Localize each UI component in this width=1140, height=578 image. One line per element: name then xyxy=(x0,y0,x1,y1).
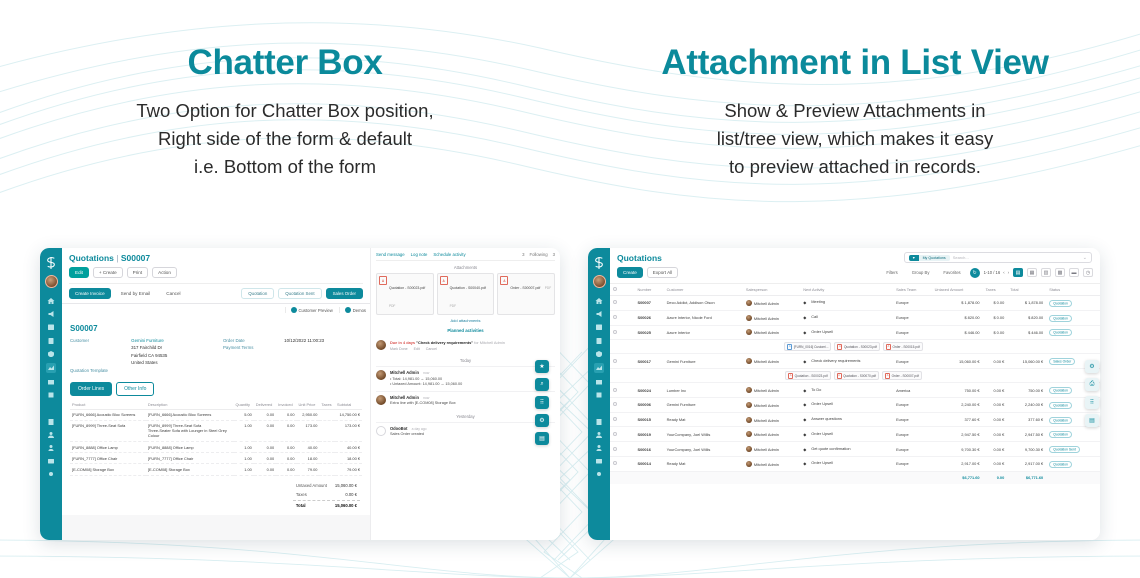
cell-total[interactable]: $ 820.00 xyxy=(1007,310,1046,325)
checkbox-icon[interactable] xyxy=(613,447,617,451)
col-subtotal[interactable]: Subtotal xyxy=(335,400,362,410)
row-checkbox[interactable] xyxy=(610,397,635,412)
checkbox-icon[interactable] xyxy=(613,417,617,421)
order-line-product[interactable]: [FURN_8888] Office Lamp xyxy=(70,441,146,452)
activity-line: Due in 4 days "Check delivery requiremen… xyxy=(390,340,555,345)
order-line-description[interactable]: [FURN_8888] Office Lamp xyxy=(146,441,234,452)
order-line-invoiced[interactable]: 0.00 xyxy=(276,441,296,452)
row-checkbox[interactable] xyxy=(610,325,635,340)
order-line-product[interactable]: [FURN_7777] Office Chair xyxy=(70,453,146,464)
cell-next-activity[interactable]: ◆To Do xyxy=(800,383,893,398)
chatter-toolbar[interactable]: Send message Log note Schedule activity … xyxy=(376,252,555,261)
message-timestamp: now xyxy=(423,396,429,400)
cell-total[interactable]: 9,700.30 € xyxy=(1007,442,1046,457)
form-notebook-tabs[interactable]: Order Lines Other Info xyxy=(70,382,362,396)
cell-taxes[interactable]: 0.00 € xyxy=(983,354,1008,369)
cell-number[interactable]: S00006 xyxy=(635,397,664,412)
field-customer[interactable]: Customer Gemini Furniture xyxy=(70,338,209,343)
checkbox-icon[interactable] xyxy=(613,330,617,334)
cell-total[interactable]: 377.60 € xyxy=(1007,412,1046,427)
order-line-taxes[interactable] xyxy=(319,464,335,475)
project-icon[interactable] xyxy=(595,457,603,465)
cell-number[interactable]: S00014 xyxy=(635,457,664,472)
tab-other-info[interactable]: Other Info xyxy=(116,382,154,396)
cell-next-activity[interactable]: ◆Get quote confirmation xyxy=(800,442,893,457)
order-line-subtotal[interactable]: 79.00 € xyxy=(335,464,362,475)
pager[interactable]: 1-10 / 16 ‹ › xyxy=(984,270,1009,275)
calendar-icon[interactable] xyxy=(595,323,603,331)
cell-next-activity[interactable]: ◆Check delivery requirements xyxy=(800,354,893,369)
cell-customer[interactable]: Ready Mat xyxy=(664,412,743,427)
search-facet[interactable]: ▼ My Quotations xyxy=(909,255,950,261)
cell-total[interactable]: 2,240.00 € xyxy=(1007,397,1046,412)
sales-icon[interactable] xyxy=(46,363,56,373)
favorites-button[interactable]: Favorites xyxy=(938,267,965,278)
col-customer[interactable]: Customer xyxy=(664,284,743,296)
row-checkbox[interactable] xyxy=(610,310,635,325)
col-invoiced[interactable]: Invoiced xyxy=(276,400,296,410)
order-line-description[interactable]: [FURN_6666] Acoustic Bloc Screens xyxy=(146,409,234,420)
order-line-taxes[interactable] xyxy=(319,441,335,452)
field-payment-terms[interactable]: Payment Terms xyxy=(223,345,362,350)
select-all-checkbox[interactable] xyxy=(610,284,635,296)
app-sidebar-right[interactable] xyxy=(588,248,610,540)
col-description[interactable]: Description xyxy=(146,400,234,410)
order-line-delivered[interactable]: 0.00 xyxy=(254,420,276,441)
smart-button-row[interactable]: Customer Preview Demos xyxy=(62,304,370,318)
group-by-button[interactable]: Group By xyxy=(907,267,935,278)
table-row[interactable]: S00025Azure InteriorMitchell Admin◆Order… xyxy=(610,325,1100,340)
crm-icon[interactable] xyxy=(595,350,603,358)
col-taxes[interactable]: Taxes xyxy=(319,400,335,410)
order-line-description[interactable]: [FURN_8999] Three-Seat Sofa Three-Seater… xyxy=(146,420,234,441)
cell-taxes[interactable]: $ 0.00 xyxy=(983,310,1008,325)
order-line-description[interactable]: [E-COM08] Storage Box xyxy=(146,464,234,475)
col-quantity[interactable]: Quantity xyxy=(234,400,254,410)
cell-untaxed-amount[interactable]: 377.60 € xyxy=(932,412,983,427)
view-list-icon[interactable]: ▤ xyxy=(1013,268,1023,277)
col-salesperson[interactable]: Salesperson xyxy=(743,284,800,296)
star-icon[interactable]: ★ xyxy=(535,360,549,373)
chevron-down-icon[interactable]: ⌄ xyxy=(1083,255,1087,261)
project-icon[interactable] xyxy=(47,457,55,465)
cell-salesperson[interactable]: Mitchell Admin xyxy=(743,427,800,442)
order-line-description[interactable]: [FURN_7777] Office Chair xyxy=(146,453,234,464)
cell-taxes[interactable]: 0.00 € xyxy=(983,397,1008,412)
schedule-activity-button[interactable]: Schedule activity xyxy=(433,252,465,257)
search-facet-label[interactable]: My Quotations xyxy=(919,255,950,261)
field-quotation-template[interactable]: Quotation Template xyxy=(70,368,209,373)
pager-prev-icon[interactable]: ‹ xyxy=(1003,270,1004,275)
order-line-invoiced[interactable]: 0.00 xyxy=(276,420,296,441)
cell-status[interactable]: Quotation xyxy=(1046,325,1100,340)
cell-next-activity[interactable]: ◆Answer questions xyxy=(800,412,893,427)
cell-status[interactable]: Quotation xyxy=(1046,310,1100,325)
search-input[interactable]: Search... xyxy=(953,255,969,260)
cell-customer[interactable]: Azure Interior, Nicole Ford xyxy=(664,310,743,325)
order-line-unit-price[interactable]: 2,950.00 xyxy=(297,409,320,420)
attachment-chip[interactable]: AOrder - S00015.pdf xyxy=(883,342,923,351)
cell-customer[interactable]: Gemini Furniture xyxy=(664,354,743,369)
export-all-button[interactable]: Export All xyxy=(647,267,678,278)
cell-next-activity[interactable]: ◆Order Upsell xyxy=(800,397,893,412)
pager-next-icon[interactable]: › xyxy=(1008,270,1009,275)
settings-icon[interactable]: ⚙ xyxy=(535,414,549,427)
table-row[interactable]: [FURN_8888] Office Lamp[FURN_8888] Offic… xyxy=(70,441,362,452)
floating-side-buttons-left[interactable]: ★ ⌕ ⠿ ⚙ ▤ xyxy=(535,360,549,445)
cell-status[interactable]: Quotation xyxy=(1046,457,1100,472)
cell-taxes[interactable]: 0.00 € xyxy=(983,383,1008,398)
print-icon[interactable]: ⎙ xyxy=(1085,378,1099,391)
order-line-invoiced[interactable]: 0.00 xyxy=(276,453,296,464)
view-activity-icon[interactable]: ◷ xyxy=(1083,268,1093,277)
cell-salesperson[interactable]: Mitchell Admin xyxy=(743,397,800,412)
search-icon[interactable]: ⌕ xyxy=(535,378,549,391)
cell-total[interactable]: $ 446.00 xyxy=(1007,325,1046,340)
cell-untaxed-amount[interactable]: 2,947.50 € xyxy=(932,427,983,442)
megaphone-icon[interactable] xyxy=(47,310,55,318)
attachment-chip[interactable]: A Quotation - S00023.pdf PDF xyxy=(376,273,434,315)
home-icon[interactable] xyxy=(47,297,55,305)
user-avatar[interactable] xyxy=(45,275,58,288)
cell-total[interactable]: 15,060.00 € xyxy=(1007,354,1046,369)
order-line-subtotal[interactable]: 18.00 € xyxy=(335,453,362,464)
col-next-activity[interactable]: Next Activity xyxy=(800,284,893,296)
cell-salesperson[interactable]: Mitchell Admin xyxy=(743,296,800,311)
order-line-unit-price[interactable]: 79.00 xyxy=(297,464,320,475)
manufacturing-icon[interactable] xyxy=(595,405,603,413)
cell-salesperson[interactable]: Mitchell Admin xyxy=(743,383,800,398)
attachment-icon[interactable]: ▤ xyxy=(1085,414,1099,427)
row-checkbox[interactable] xyxy=(610,457,635,472)
checkbox-icon[interactable] xyxy=(613,287,617,291)
accounting-icon[interactable] xyxy=(595,418,603,426)
cell-number[interactable]: S00026 xyxy=(635,310,664,325)
cell-sales-team[interactable]: Europe xyxy=(893,296,932,311)
employees-icon[interactable] xyxy=(47,431,55,439)
cell-status[interactable]: Quotation xyxy=(1046,427,1100,442)
inventory-icon[interactable] xyxy=(47,378,55,386)
cell-number[interactable]: S00025 xyxy=(635,325,664,340)
add-attachments-button[interactable]: Add attachments xyxy=(376,318,555,323)
cell-next-activity[interactable]: ◆Order Upsell xyxy=(800,325,893,340)
apps-icon[interactable]: ⠿ xyxy=(1085,396,1099,409)
order-line-taxes[interactable] xyxy=(319,409,335,420)
settings-icon[interactable] xyxy=(595,470,603,478)
cell-untaxed-amount[interactable]: 15,060.00 € xyxy=(932,354,983,369)
cell-number[interactable]: S00019 xyxy=(635,427,664,442)
user-avatar[interactable] xyxy=(593,275,606,288)
attachment-chip[interactable]: AQuotation - S00023.pdf xyxy=(785,371,830,380)
table-row[interactable]: S00014Ready MatMitchell Admin◆Order Upse… xyxy=(610,457,1100,472)
edit-button[interactable]: Edit xyxy=(69,267,89,278)
order-line-quantity[interactable]: 1.00 xyxy=(234,441,254,452)
cell-sales-team[interactable]: America xyxy=(893,383,932,398)
note-icon[interactable]: ▤ xyxy=(535,432,549,445)
col-untaxed-amount[interactable]: Untaxed Amount xyxy=(932,284,983,296)
table-row[interactable]: S00007Deco Addict, Addison OlsonMitchell… xyxy=(610,296,1100,311)
cell-untaxed-amount[interactable]: $ 446.00 xyxy=(932,325,983,340)
cell-number[interactable]: S00024 xyxy=(635,383,664,398)
checkbox-icon[interactable] xyxy=(613,402,617,406)
order-line-delivered[interactable]: 0.00 xyxy=(254,409,276,420)
col-total[interactable]: Total xyxy=(1007,284,1046,296)
grid-icon[interactable]: ⠿ xyxy=(535,396,549,409)
cell-customer[interactable]: Azure Interior xyxy=(664,325,743,340)
order-line-subtotal[interactable]: 14,750.00 € xyxy=(335,409,362,420)
statusbar-sales-order[interactable]: Sales Order xyxy=(326,288,363,299)
cancel-button[interactable]: Cancel xyxy=(160,288,186,299)
list-view-body: Quotations ▼ My Quotations Search... ⌄ C… xyxy=(610,248,1100,540)
breadcrumb[interactable]: Quotations | S00007 xyxy=(69,253,363,263)
col-product[interactable]: Product xyxy=(70,400,146,410)
filters-button[interactable]: Filters xyxy=(881,267,902,278)
cell-taxes[interactable]: 0.00 € xyxy=(983,442,1008,457)
search-bar[interactable]: ▼ My Quotations Search... ⌄ xyxy=(904,252,1092,263)
cell-status[interactable]: Quotation Sent xyxy=(1046,442,1100,457)
settings-icon[interactable] xyxy=(47,470,55,478)
refresh-icon[interactable]: ↻ xyxy=(970,268,980,278)
cell-taxes[interactable]: $ 0.00 xyxy=(983,325,1008,340)
activity-edit-button[interactable]: Edit xyxy=(414,347,420,351)
checkbox-icon[interactable] xyxy=(613,300,617,304)
activity-actions[interactable]: Mark Done Edit Cancel xyxy=(390,347,555,351)
order-line-unit-price[interactable]: 173.00 xyxy=(297,420,320,441)
attachment-chip[interactable]: A Order - S00007.pdf PDF xyxy=(497,273,555,315)
floating-side-buttons-right[interactable]: ⚙ ⎙ ⠿ ▤ xyxy=(1085,360,1099,427)
cell-untaxed-amount[interactable]: $ 1,878.00 xyxy=(932,296,983,311)
attachment-chip[interactable]: AQuotation - S00023.pdf xyxy=(834,342,879,351)
list-rows-body: S00007Deco Addict, Addison OlsonMitchell… xyxy=(610,296,1100,472)
create-invoice-button[interactable]: Create Invoice xyxy=(69,288,111,299)
view-pivot-icon[interactable]: ▩ xyxy=(1055,268,1065,277)
order-line-quantity[interactable]: 1.00 xyxy=(234,453,254,464)
cell-salesperson[interactable]: Mitchell Admin xyxy=(743,325,800,340)
order-line-subtotal[interactable]: 40.00 € xyxy=(335,441,362,452)
send-by-email-button[interactable]: Send by Email xyxy=(115,288,157,299)
field-order-date[interactable]: Order Date 10/12/2022 11:00:23 xyxy=(223,338,362,343)
cell-next-activity[interactable]: ◆Order Upsell xyxy=(800,427,893,442)
cell-status[interactable]: Quotation xyxy=(1046,296,1100,311)
order-line-taxes[interactable] xyxy=(319,420,335,441)
checkbox-icon[interactable] xyxy=(613,461,617,465)
order-line-quantity[interactable]: 5.00 xyxy=(234,409,254,420)
order-line-delivered[interactable]: 0.00 xyxy=(254,453,276,464)
crm-icon[interactable] xyxy=(47,350,55,358)
checkbox-icon[interactable] xyxy=(613,359,617,363)
calendar-icon[interactable] xyxy=(47,323,55,331)
table-row[interactable]: S00016YourCompany, Joel WillisMitchell A… xyxy=(610,442,1100,457)
table-row[interactable]: [E-COM08] Storage Box[E-COM08] Storage B… xyxy=(70,464,362,475)
activity-cancel-button[interactable]: Cancel xyxy=(426,347,437,351)
demos-smart-button[interactable]: Demos xyxy=(339,307,366,313)
cell-customer[interactable]: YourCompany, Joel Willis xyxy=(664,442,743,457)
print-button[interactable]: Print xyxy=(127,267,148,278)
order-line-product[interactable]: [FURN_6666] Acoustic Bloc Screens xyxy=(70,409,146,420)
cell-customer[interactable]: Gemini Furniture xyxy=(664,397,743,412)
app-sidebar-left[interactable] xyxy=(40,248,62,540)
cell-taxes[interactable]: 0.00 € xyxy=(983,427,1008,442)
cell-salesperson[interactable]: Mitchell Admin xyxy=(743,442,800,457)
attachment-chip[interactable]: A Quotation - S00040.pdf PDF xyxy=(437,273,495,315)
statusbar-quotation-sent[interactable]: Quotation Sent xyxy=(278,288,321,299)
home-icon[interactable] xyxy=(595,297,603,305)
attachment-chip[interactable]: AQuotation - S00070.pdf xyxy=(834,371,879,380)
row-checkbox[interactable] xyxy=(610,383,635,398)
checkbox-icon[interactable] xyxy=(613,388,617,392)
following-toggle[interactable]: Following xyxy=(529,252,547,257)
table-row[interactable]: S00019YourCompany, Joel WillisMitchell A… xyxy=(610,427,1100,442)
cell-sales-team[interactable]: Europe xyxy=(893,397,932,412)
cell-sales-team[interactable]: Europe xyxy=(893,412,932,427)
cell-salesperson[interactable]: Mitchell Admin xyxy=(743,310,800,325)
cell-sales-team[interactable]: Europe xyxy=(893,354,932,369)
settings-icon[interactable]: ⚙ xyxy=(1085,360,1099,373)
order-line-unit-price[interactable]: 40.00 xyxy=(297,441,320,452)
cell-taxes[interactable]: $ 0.00 xyxy=(983,296,1008,311)
order-line-invoiced[interactable]: 0.00 xyxy=(276,409,296,420)
cell-salesperson[interactable]: Mitchell Admin xyxy=(743,457,800,472)
log-note-button[interactable]: Log note xyxy=(411,252,428,257)
contacts-icon[interactable] xyxy=(47,337,55,345)
cell-customer[interactable]: Deco Addict, Addison Olson xyxy=(664,296,743,311)
table-row[interactable]: S00017Gemini FurnitureMitchell Admin◆Che… xyxy=(610,354,1100,369)
view-kanban-icon[interactable]: ▦ xyxy=(1027,268,1037,277)
cell-sales-team[interactable]: Europe xyxy=(893,310,932,325)
col-status[interactable]: Status xyxy=(1046,284,1100,296)
cell-salesperson[interactable]: Mitchell Admin xyxy=(743,412,800,427)
cell-total[interactable]: 750.00 € xyxy=(1007,383,1046,398)
statusbar-quotation[interactable]: Quotation xyxy=(241,288,274,299)
view-graph-icon[interactable]: ▬ xyxy=(1069,268,1079,277)
sidebar-icon-list[interactable] xyxy=(594,297,604,478)
table-row[interactable]: S00026Azure Interior, Nicole FordMitchel… xyxy=(610,310,1100,325)
cell-next-activity[interactable]: ◆Meeting xyxy=(800,296,893,311)
col-sales-team[interactable]: Sales Team xyxy=(893,284,932,296)
cell-untaxed-amount[interactable]: 2,240.00 € xyxy=(932,397,983,412)
order-line-delivered[interactable]: 0.00 xyxy=(254,464,276,475)
order-line-product[interactable]: [E-COM08] Storage Box xyxy=(70,464,146,475)
order-line-unit-price[interactable]: 18.00 xyxy=(297,453,320,464)
checkbox-icon[interactable] xyxy=(613,315,617,319)
cell-customer[interactable]: Lumber Inc xyxy=(664,383,743,398)
cell-total[interactable]: 2,917.00 € xyxy=(1007,457,1046,472)
table-row[interactable]: [FURN_6666] Acoustic Bloc Screens[FURN_6… xyxy=(70,409,362,420)
manufacturing-icon[interactable] xyxy=(47,405,55,413)
employees-icon[interactable] xyxy=(595,431,603,439)
checkbox-icon[interactable] xyxy=(613,432,617,436)
chatter-counters[interactable]: 3 Following 3 xyxy=(522,252,555,257)
create-button[interactable]: Create xyxy=(617,267,643,278)
purchase-icon[interactable] xyxy=(595,391,603,399)
col-taxes[interactable]: Taxes xyxy=(983,284,1008,296)
recruitment-icon[interactable] xyxy=(47,444,55,452)
table-row[interactable]: S00015Ready MatMitchell Admin◆Answer que… xyxy=(610,412,1100,427)
form-status-row[interactable]: Create Invoice Send by Email Cancel Quot… xyxy=(69,283,363,303)
attachment-type: PDF xyxy=(389,304,395,308)
cell-untaxed-amount[interactable]: $ 820.00 xyxy=(932,310,983,325)
totals-spacer xyxy=(610,471,932,483)
row-checkbox[interactable] xyxy=(610,296,635,311)
order-line-taxes[interactable] xyxy=(319,453,335,464)
list-toolbar[interactable]: Create Export All Filters Group By Favor… xyxy=(617,263,1093,283)
table-row[interactable]: S00024Lumber IncMitchell Admin◆To DoAmer… xyxy=(610,383,1100,398)
cell-next-activity[interactable]: ◆Call xyxy=(800,310,893,325)
megaphone-icon[interactable] xyxy=(595,310,603,318)
inventory-icon[interactable] xyxy=(595,378,603,386)
cell-number[interactable]: S00015 xyxy=(635,412,664,427)
row-checkbox[interactable] xyxy=(610,427,635,442)
purchase-icon[interactable] xyxy=(47,391,55,399)
contacts-icon[interactable] xyxy=(595,337,603,345)
recruitment-icon[interactable] xyxy=(595,444,603,452)
col-delivered[interactable]: Delivered xyxy=(254,400,276,410)
customer-preview-smart-button[interactable]: Customer Preview xyxy=(285,307,333,313)
create-button[interactable]: + Create xyxy=(93,267,123,278)
table-row[interactable]: [FURN_7777] Office Chair[FURN_7777] Offi… xyxy=(70,453,362,464)
order-line-subtotal[interactable]: 173.00 € xyxy=(335,420,362,441)
field-customer-value[interactable]: Gemini Furniture xyxy=(131,338,164,343)
form-action-buttons[interactable]: Edit + Create Print Action xyxy=(69,267,363,278)
action-button[interactable]: Action xyxy=(152,267,177,278)
sidebar-icon-list[interactable] xyxy=(46,297,56,478)
row-checkbox[interactable] xyxy=(610,412,635,427)
breadcrumb-root[interactable]: Quotations xyxy=(69,253,114,263)
cell-customer[interactable]: YourCompany, Joel Willis xyxy=(664,427,743,442)
cell-taxes[interactable]: 0.00 € xyxy=(983,412,1008,427)
table-row[interactable]: [FURN_8999] Three-Seat Sofa[FURN_8999] T… xyxy=(70,420,362,441)
col-unit-price[interactable]: Unit Price xyxy=(297,400,320,410)
order-line-delivered[interactable]: 0.00 xyxy=(254,441,276,452)
attachment-chip[interactable]: A[FURN_0016] Customi... xyxy=(784,342,831,351)
cell-untaxed-amount[interactable]: 750.00 € xyxy=(932,383,983,398)
cell-salesperson[interactable]: Mitchell Admin xyxy=(743,354,800,369)
followers-count[interactable]: 3 xyxy=(522,252,524,257)
cell-untaxed-amount[interactable]: 2,917.00 € xyxy=(932,457,983,472)
attachment-chip[interactable]: AOrder - S00007.pdf xyxy=(882,371,922,380)
order-line-invoiced[interactable]: 0.00 xyxy=(276,464,296,475)
order-line-quantity[interactable]: 1.00 xyxy=(234,420,254,441)
accounting-icon[interactable] xyxy=(47,418,55,426)
cell-sales-team[interactable]: Europe xyxy=(893,427,932,442)
cell-total[interactable]: 2,947.50 € xyxy=(1007,427,1046,442)
sales-icon[interactable] xyxy=(594,363,604,373)
tab-order-lines[interactable]: Order Lines xyxy=(70,382,112,396)
cell-total[interactable]: $ 1,878.00 xyxy=(1007,296,1046,311)
order-line-product[interactable]: [FURN_8999] Three-Seat Sofa xyxy=(70,420,146,441)
cell-number[interactable]: S00016 xyxy=(635,442,664,457)
field-order-date-value[interactable]: 10/12/2022 11:00:23 xyxy=(284,338,324,343)
cell-sales-team[interactable]: Europe xyxy=(893,457,932,472)
view-calendar-icon[interactable]: ▥ xyxy=(1041,268,1051,277)
table-row[interactable]: S00006Gemini FurnitureMitchell Admin◆Ord… xyxy=(610,397,1100,412)
cell-sales-team[interactable]: Europe xyxy=(893,442,932,457)
row-checkbox[interactable] xyxy=(610,354,635,369)
cell-taxes[interactable]: 0.00 € xyxy=(983,457,1008,472)
mark-done-button[interactable]: Mark Done xyxy=(390,347,408,351)
row-checkbox[interactable] xyxy=(610,442,635,457)
cell-number[interactable]: S00017 xyxy=(635,354,664,369)
cell-number[interactable]: S00007 xyxy=(635,296,664,311)
order-line-quantity[interactable]: 1.00 xyxy=(234,464,254,475)
attachments-count[interactable]: 3 xyxy=(553,252,555,257)
cell-customer[interactable]: Ready Mat xyxy=(664,457,743,472)
cell-sales-team[interactable]: Europe xyxy=(893,325,932,340)
send-message-button[interactable]: Send message xyxy=(376,252,405,257)
col-number[interactable]: Number xyxy=(635,284,664,296)
cell-untaxed-amount[interactable]: 9,700.30 € xyxy=(932,442,983,457)
cell-next-activity[interactable]: ◆Order Upsell xyxy=(800,457,893,472)
